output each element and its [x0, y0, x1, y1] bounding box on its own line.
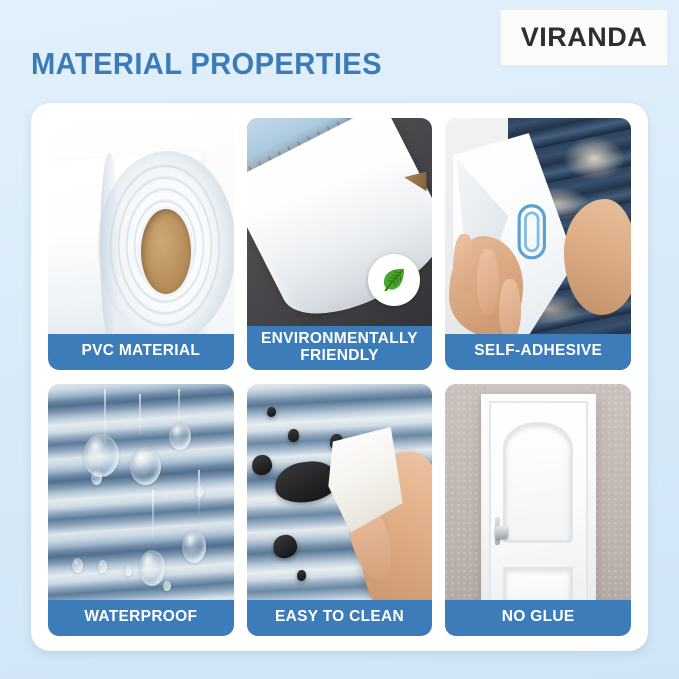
self-adhesive-photo: [445, 118, 631, 370]
feature-tile-grid: PVC MATERIAL: [48, 118, 631, 636]
feature-tile-environmentally-friendly[interactable]: ENVIRONMENTALLY FRIENDLY: [247, 118, 433, 370]
feature-card: PVC MATERIAL: [31, 103, 648, 651]
easy-to-clean-photo: [247, 384, 433, 636]
brand-logo: VIRANDA: [501, 10, 667, 65]
paperclip-icon: [516, 194, 548, 270]
door-handle: [495, 526, 507, 539]
page-title: MATERIAL PROPERTIES: [31, 46, 382, 82]
finger: [477, 249, 499, 315]
feature-label-easy-to-clean: EASY TO CLEAN: [247, 600, 433, 636]
feature-tile-waterproof[interactable]: WATERPROOF: [48, 384, 234, 636]
infographic-page: VIRANDA MATERIAL PROPERTIES PVC MATERIAL: [0, 0, 679, 679]
feature-label-waterproof: WATERPROOF: [48, 600, 234, 636]
leaf-icon: [378, 264, 410, 296]
right-hand: [564, 199, 631, 315]
pvc-material-photo: [48, 118, 234, 370]
feature-label-environmentally-friendly: ENVIRONMENTALLY FRIENDLY: [247, 326, 433, 370]
no-glue-photo: [445, 384, 631, 636]
brand-name: VIRANDA: [521, 22, 648, 53]
feature-tile-easy-to-clean[interactable]: EASY TO CLEAN: [247, 384, 433, 636]
waterproof-photo: [48, 384, 234, 636]
finger: [453, 234, 475, 294]
feature-tile-self-adhesive[interactable]: SELF-ADHESIVE: [445, 118, 631, 370]
feature-tile-no-glue[interactable]: NO GLUE: [445, 384, 631, 636]
finger: [499, 279, 521, 339]
feature-tile-pvc-material[interactable]: PVC MATERIAL: [48, 118, 234, 370]
feature-label-no-glue: NO GLUE: [445, 600, 631, 636]
feature-label-pvc-material: PVC MATERIAL: [48, 334, 234, 370]
eco-badge: [368, 254, 420, 306]
door-frame: [481, 394, 596, 621]
feature-label-self-adhesive: SELF-ADHESIVE: [445, 334, 631, 370]
door: [489, 401, 588, 621]
